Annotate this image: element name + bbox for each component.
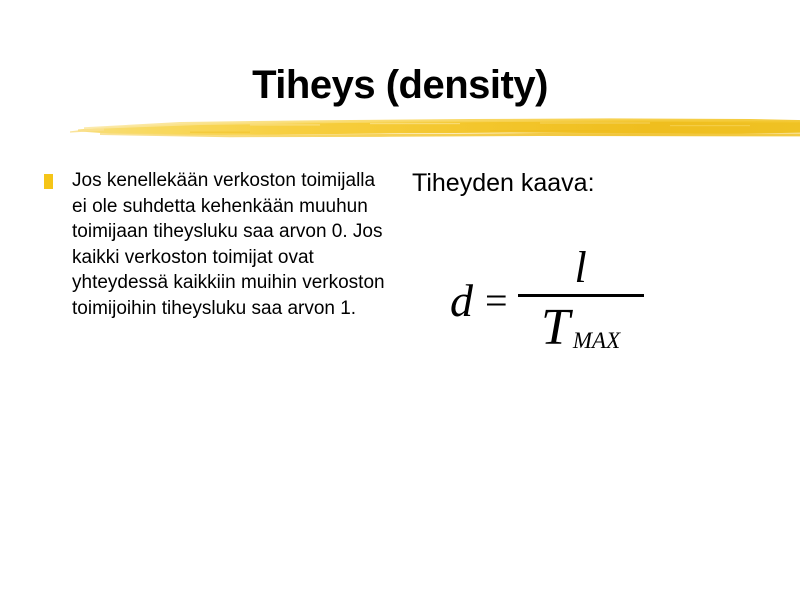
page-title: Tiheys (density)	[0, 62, 800, 108]
formula-section: Tiheyden kaava: d = l T MAX	[412, 168, 782, 357]
list-item: Jos kenellekään verkoston toimijalla ei …	[44, 168, 394, 321]
formula-heading: Tiheyden kaava:	[412, 168, 782, 198]
formula-denominator-subscript: MAX	[573, 329, 620, 352]
yellow-brush-divider	[70, 108, 800, 148]
square-bullet-icon	[44, 174, 53, 189]
density-formula: d = l T MAX	[450, 244, 782, 357]
formula-equals-sign: =	[485, 281, 508, 321]
formula-denominator: T MAX	[541, 297, 620, 357]
slide-canvas: Tiheys (density)	[0, 0, 800, 600]
slide-body: Jos kenellekään verkoston toimijalla ei …	[0, 160, 800, 420]
formula-numerator: l	[574, 244, 586, 294]
formula-denominator-base: T	[541, 299, 570, 357]
formula-fraction: l T MAX	[518, 244, 644, 357]
bullet-list: Jos kenellekään verkoston toimijalla ei …	[44, 168, 394, 321]
formula-lhs-variable: d	[450, 278, 473, 324]
bullet-item-text: Jos kenellekään verkoston toimijalla ei …	[72, 168, 394, 321]
